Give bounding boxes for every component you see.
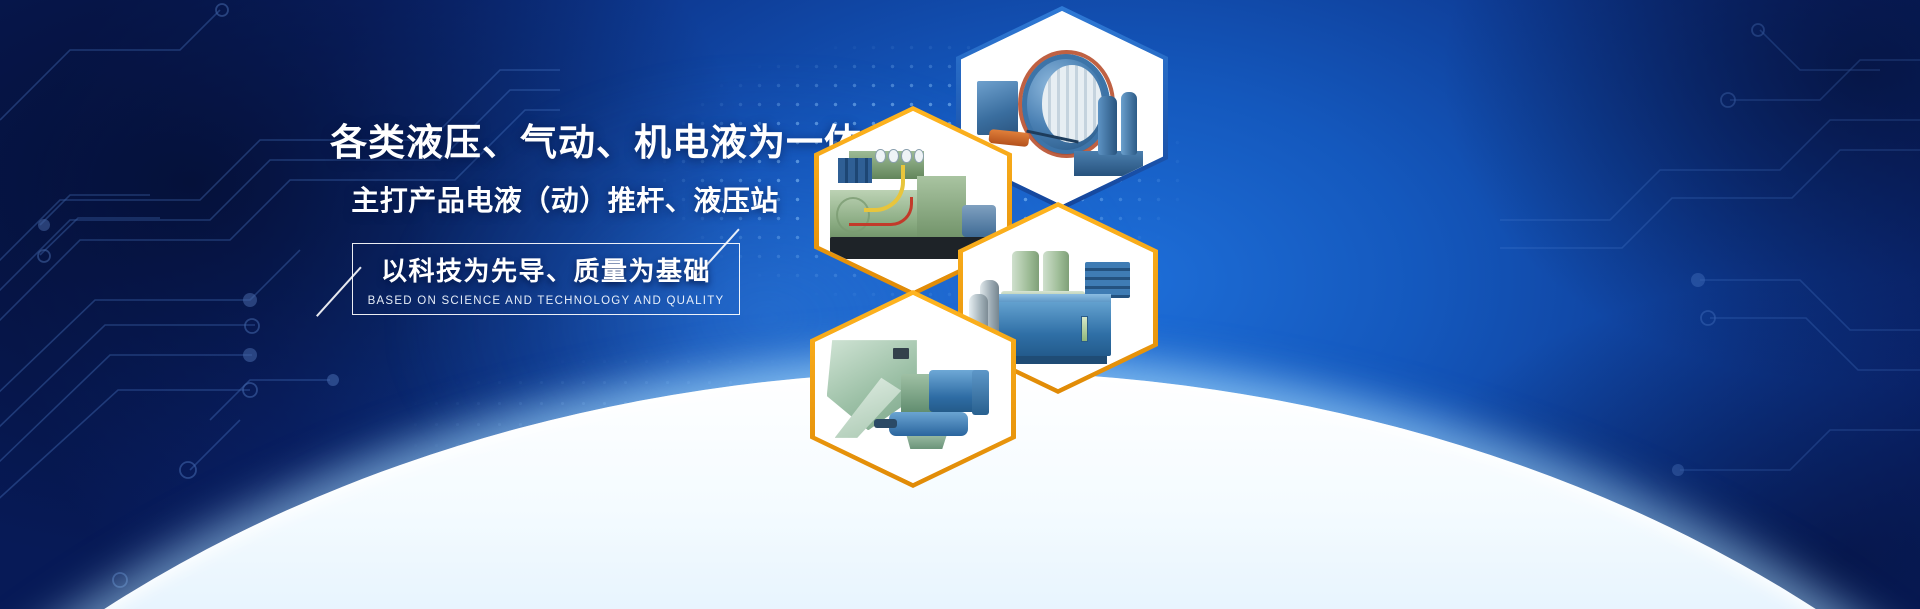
pump-motor	[962, 205, 996, 237]
valve-gearbox	[977, 81, 1017, 135]
slogan-box: 以科技为先导、质量为基础 BASED ON SCIENCE AND TECHNO…	[352, 243, 740, 315]
pump-gauge	[914, 149, 925, 163]
station-valve-block	[1085, 262, 1131, 298]
slogan-chinese: 以科技为先导、质量为基础	[381, 251, 711, 288]
pump-gauge	[901, 149, 912, 163]
pump-gauge	[875, 149, 886, 163]
hero-banner: 各类液压、气动、机电液为一体 主打产品电液（动）推杆、液压站 以科技为先导、质量…	[0, 0, 1920, 609]
banner-subline: 主打产品电液（动）推杆、液压站	[330, 179, 800, 219]
pump-housing	[917, 176, 966, 241]
slogan-block: 以科技为先导、质量为基础 BASED ON SCIENCE AND TECHNO…	[330, 243, 740, 315]
pusher-end-cap	[972, 370, 990, 415]
pump-gauge	[888, 149, 899, 163]
banner-copy: 各类液压、气动、机电液为一体 主打产品电液（动）推杆、液压站 以科技为先导、质量…	[330, 122, 800, 315]
hexagon-pusher-inner	[815, 295, 1011, 483]
valve-disc	[1042, 65, 1103, 143]
pump-red-hose	[849, 197, 913, 226]
pusher-cylinder	[889, 412, 967, 436]
photo-push-rod-damper	[815, 295, 1011, 483]
pump-gauge-row	[875, 149, 924, 163]
station-sight-glass	[1081, 316, 1089, 341]
pusher-rod	[874, 419, 898, 428]
valve-rod	[989, 129, 1031, 147]
damper-nameplate	[893, 348, 909, 359]
product-hexagon-cluster	[786, 6, 1166, 476]
valve-accumulator-1	[1098, 96, 1116, 154]
slogan-english: BASED ON SCIENCE AND TECHNOLOGY AND QUAL…	[368, 295, 725, 307]
valve-accumulator-2	[1121, 92, 1137, 154]
banner-headline: 各类液压、气动、机电液为一体	[330, 122, 800, 163]
